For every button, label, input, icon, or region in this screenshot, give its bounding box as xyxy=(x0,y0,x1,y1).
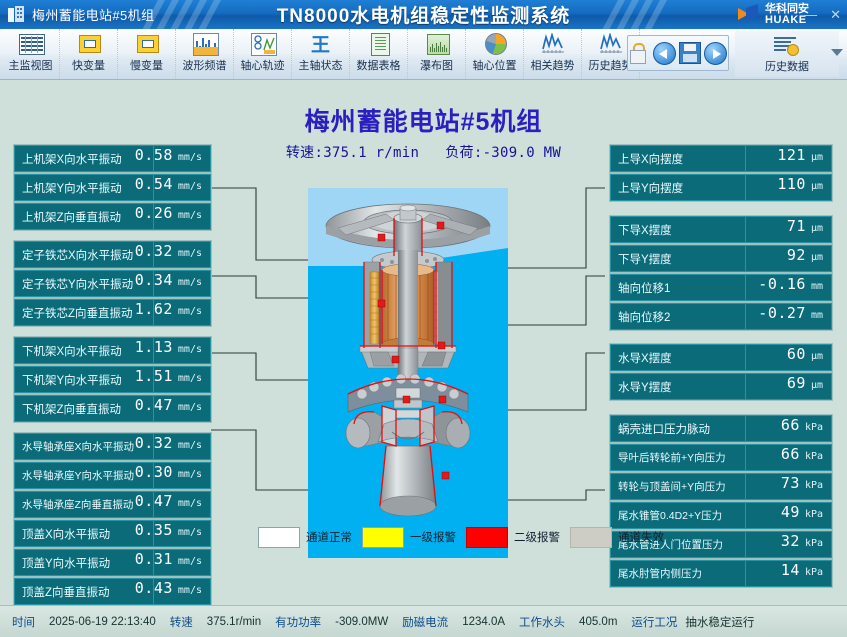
toolbar-label: 数据表格 xyxy=(357,57,401,73)
value-unit: mm/s xyxy=(178,210,202,221)
brand-name-cn: 华科同安 xyxy=(765,4,809,15)
measurement-row[interactable]: 尾水锥管0.4D2+Y压力 49 kPa xyxy=(610,502,832,529)
value-unit: mm/s xyxy=(178,498,202,509)
measurement-label: 下机架Y向水平振动 xyxy=(14,366,154,393)
status-value-water-head: 405.0m xyxy=(579,616,617,628)
measurement-row[interactable]: 下机架Y向水平振动 1.51 mm/s xyxy=(14,366,211,393)
value-number: 0.35 xyxy=(135,521,173,539)
value-number: 73 xyxy=(781,474,800,492)
measurement-value: 1.13 mm/s xyxy=(154,337,211,364)
measurement-value: 0.47 mm/s xyxy=(154,491,211,518)
measurement-value: 32 kPa xyxy=(746,531,832,558)
status-value-operating-condition: 抽水稳定运行 xyxy=(685,614,754,630)
measurement-label: 下导Y摆度 xyxy=(610,245,746,272)
application-window: 梅州蓄能电站#5机组 TN8000水电机组稳定性监测系统 华科同安 HUAKE … xyxy=(0,0,847,636)
measurement-row[interactable]: 尾水肘管内侧压力 14 kPa xyxy=(610,560,832,587)
measurement-value: -0.27 mm xyxy=(746,303,832,330)
title-bar: 梅州蓄能电站#5机组 TN8000水电机组稳定性监测系统 华科同安 HUAKE … xyxy=(0,0,847,29)
measurement-value: 0.34 mm/s xyxy=(154,270,211,297)
measurement-row[interactable]: 定子铁芯X向水平振动 0.32 mm/s xyxy=(14,241,211,268)
measurement-label: 水导轴承座Y向水平振动 xyxy=(14,462,154,489)
measurement-label: 水导X摆度 xyxy=(610,344,746,371)
brand-logo: 华科同安 HUAKE xyxy=(738,0,809,29)
measurement-label: 蜗壳进口压力脉动 xyxy=(610,415,746,442)
toolbar-item-data-table[interactable]: 数据表格 xyxy=(350,29,408,79)
legend-item-failed: 通道失效 xyxy=(570,527,664,548)
value-unit: kPa xyxy=(805,451,823,462)
legend-swatch-normal xyxy=(258,527,300,548)
navigation-button-group xyxy=(627,35,729,71)
hydro-generator-illustration xyxy=(308,188,508,558)
measurement-row[interactable]: 轴向位移1 -0.16 mm xyxy=(610,274,832,301)
measurement-value: -0.16 mm xyxy=(746,274,832,301)
value-number: 0.26 xyxy=(135,204,173,222)
measurement-label: 顶盖X向水平振动 xyxy=(14,520,154,547)
measurement-row[interactable]: 上机架X向水平振动 0.58 mm/s xyxy=(14,145,211,172)
measurement-value: 0.47 mm/s xyxy=(154,395,211,422)
toolbar-item-shaft-orbit[interactable]: 轴心轨迹 xyxy=(234,29,292,79)
speed-value: 375.1 r/min xyxy=(323,145,419,161)
history-trend-icon xyxy=(598,32,624,56)
load-label: 负荷: xyxy=(445,145,482,161)
toolbar-label: 相关趋势 xyxy=(531,57,575,73)
value-unit: kPa xyxy=(805,538,823,549)
measurement-label: 上机架Z向垂直振动 xyxy=(14,203,154,230)
measurement-row[interactable]: 转轮与顶盖间+Y向压力 73 kPa xyxy=(610,473,832,500)
toolbar-item-correlation-trend[interactable]: 相关趋势 xyxy=(524,29,582,79)
toolbar-item-main-view[interactable]: 主监视图 xyxy=(2,29,60,79)
value-unit: mm/s xyxy=(178,440,202,451)
measurement-value: 0.35 mm/s xyxy=(154,520,211,547)
value-number: 0.34 xyxy=(135,271,173,289)
measurement-value: 73 kPa xyxy=(746,473,832,500)
status-value-excitation-current: 1234.0A xyxy=(462,616,505,628)
status-value-time: 2025-06-19 22:13:40 xyxy=(49,616,156,628)
measurement-label: 下机架Z向垂直振动 xyxy=(14,395,154,422)
value-number: 1.62 xyxy=(135,300,173,318)
measurement-row[interactable]: 水导轴承座X向水平振动 0.32 mm/s xyxy=(14,433,211,460)
measurement-value: 110 μm xyxy=(746,174,832,201)
legend-swatch-alarm2 xyxy=(466,527,508,548)
toolbar-label: 主监视图 xyxy=(9,57,53,73)
value-number: 0.54 xyxy=(135,175,173,193)
measurement-value: 0.54 mm/s xyxy=(154,174,211,201)
measurement-row[interactable]: 上机架Z向垂直振动 0.26 mm/s xyxy=(14,203,211,230)
status-key-water-head: 工作水头 xyxy=(519,614,565,630)
toolbar-label: 快变量 xyxy=(72,57,105,73)
slow-variable-icon xyxy=(134,32,160,56)
waterfall-chart-icon xyxy=(424,32,450,56)
value-unit: mm/s xyxy=(178,402,202,413)
measurement-row[interactable]: 下机架Z向垂直振动 0.47 mm/s xyxy=(14,395,211,422)
toolbar-item-fast-variable[interactable]: 快变量 xyxy=(60,29,118,79)
value-number: 121 xyxy=(777,146,806,164)
measurement-row[interactable]: 上机架Y向水平振动 0.54 mm/s xyxy=(14,174,211,201)
value-unit: μm xyxy=(811,152,823,163)
load-value: -309.0 MW xyxy=(483,145,562,161)
window-title-left: 梅州蓄能电站#5机组 xyxy=(32,5,154,24)
value-unit: mm/s xyxy=(178,306,202,317)
measurement-label: 导叶后转轮前+Y向压力 xyxy=(610,444,746,471)
value-unit: μm xyxy=(811,351,823,362)
measurement-value: 69 μm xyxy=(746,373,832,400)
value-number: 60 xyxy=(787,345,806,363)
orbit-curve xyxy=(252,34,276,55)
measurement-label: 水导轴承座X向水平振动 xyxy=(14,433,154,460)
measurement-value: 1.62 mm/s xyxy=(154,299,211,326)
value-unit: mm xyxy=(811,281,823,292)
fast-variable-icon xyxy=(76,32,102,56)
value-number: 71 xyxy=(787,217,806,235)
value-unit: mm/s xyxy=(178,344,202,355)
measurement-label: 上导Y向摆度 xyxy=(610,174,746,201)
measurement-label: 下导X摆度 xyxy=(610,216,746,243)
measurement-value: 92 μm xyxy=(746,245,832,272)
value-number: 49 xyxy=(781,503,800,521)
value-number: 66 xyxy=(781,416,800,434)
history-data-label: 历史数据 xyxy=(765,58,809,74)
toolbar-label: 瀑布图 xyxy=(420,57,453,73)
measurement-row[interactable]: 顶盖Y向水平振动 0.31 mm/s xyxy=(14,549,211,576)
value-number: 0.32 xyxy=(135,434,173,452)
measurement-label: 上机架Y向水平振动 xyxy=(14,174,154,201)
measurement-row[interactable]: 下导X摆度 71 μm xyxy=(610,216,832,243)
measurement-value: 71 μm xyxy=(746,216,832,243)
legend-item-normal: 通道正常 xyxy=(258,527,352,548)
huake-logo-icon xyxy=(738,6,760,23)
value-unit: mm/s xyxy=(178,556,202,567)
measurement-label: 轴向位移1 xyxy=(610,274,746,301)
measurement-row[interactable]: 水导X摆度 60 μm xyxy=(610,344,832,371)
measurement-value: 49 kPa xyxy=(746,502,832,529)
legend-item-alarm1: 一级报警 xyxy=(362,527,456,548)
next-arrow-icon[interactable] xyxy=(704,42,727,65)
measurement-label: 下机架X向水平振动 xyxy=(14,337,154,364)
value-number: 92 xyxy=(787,246,806,264)
measurement-label: 定子铁芯Z向垂直振动 xyxy=(14,299,154,326)
titlebar-left: 梅州蓄能电站#5机组 xyxy=(8,0,154,29)
measurement-value: 0.58 mm/s xyxy=(154,145,211,172)
toolbar-item-shaft-position[interactable]: 轴心位置 xyxy=(466,29,524,79)
measurement-value: 0.32 mm/s xyxy=(154,433,211,460)
measurement-value: 14 kPa xyxy=(746,560,832,587)
value-unit: mm/s xyxy=(178,469,202,480)
brand-name-en: HUAKE xyxy=(765,15,809,26)
value-number: -0.16 xyxy=(758,275,806,293)
measurement-row[interactable]: 顶盖Z向垂直振动 0.43 mm/s xyxy=(14,578,211,605)
status-value-active-power: -309.0MW xyxy=(335,616,388,628)
measurement-label: 尾水肘管内侧压力 xyxy=(610,560,746,587)
measurement-row[interactable]: 定子铁芯Z向垂直振动 1.62 mm/s xyxy=(14,299,211,326)
measurement-label: 转轮与顶盖间+Y向压力 xyxy=(610,473,746,500)
measurement-value: 66 kPa xyxy=(746,444,832,471)
value-number: 14 xyxy=(781,561,800,579)
value-number: -0.27 xyxy=(758,304,806,322)
minimize-button[interactable]: — xyxy=(804,8,817,21)
toolbar-item-shaft-status[interactable]: 王 主轴状态 xyxy=(292,29,350,79)
toolbar-label: 波形频谱 xyxy=(183,57,227,73)
status-bar: 时间 2025-06-19 22:13:40 转速 375.1r/min 有功功… xyxy=(0,605,847,637)
measurement-value: 0.32 mm/s xyxy=(154,241,211,268)
value-unit: μm xyxy=(811,223,823,234)
shaft-orbit-icon xyxy=(250,32,276,56)
value-number: 69 xyxy=(787,374,806,392)
value-unit: kPa xyxy=(805,509,823,520)
measurement-row[interactable]: 导叶后转轮前+Y向压力 66 kPa xyxy=(610,444,832,471)
measurement-label: 上机架X向水平振动 xyxy=(14,145,154,172)
measurement-row[interactable]: 水导轴承座Y向水平振动 0.30 mm/s xyxy=(14,462,211,489)
measurement-row[interactable]: 轴向位移2 -0.27 mm xyxy=(610,303,832,330)
value-number: 66 xyxy=(781,445,800,463)
main-content: 梅州蓄能电站#5机组 转速:375.1 r/min负荷:-309.0 MW xyxy=(0,80,847,605)
shaft-position-icon xyxy=(482,32,508,56)
value-unit: mm/s xyxy=(178,585,202,596)
legend-label: 通道正常 xyxy=(306,529,352,545)
measurement-row[interactable]: 水导Y摆度 69 μm xyxy=(610,373,832,400)
history-data-icon xyxy=(773,35,801,57)
measurement-row[interactable]: 定子铁芯Y向水平振动 0.34 mm/s xyxy=(14,270,211,297)
legend-label: 一级报警 xyxy=(410,529,456,545)
dropdown-caret-icon[interactable] xyxy=(831,49,843,56)
shaft-status-icon: 王 xyxy=(308,32,334,56)
toolbar-item-waterfall[interactable]: 瀑布图 xyxy=(408,29,466,79)
value-unit: kPa xyxy=(805,567,823,578)
measurement-label: 定子铁芯X向水平振动 xyxy=(14,241,154,268)
value-number: 32 xyxy=(781,532,800,550)
measurement-label: 尾水锥管0.4D2+Y压力 xyxy=(610,502,746,529)
measurement-label: 水导轴承座Z向垂直振动 xyxy=(14,491,154,518)
status-key-active-power: 有功功率 xyxy=(275,614,321,630)
toolbar-label: 历史趋势 xyxy=(589,57,633,73)
grid-view-icon xyxy=(18,32,44,56)
value-unit: kPa xyxy=(805,422,823,433)
toolbar-item-slow-variable[interactable]: 慢变量 xyxy=(118,29,176,79)
measurement-row[interactable]: 上导X向摆度 121 μm xyxy=(610,145,832,172)
lock-icon[interactable] xyxy=(629,43,650,64)
data-table-icon xyxy=(366,32,392,56)
legend-swatch-failed xyxy=(570,527,612,548)
measurement-row[interactable]: 上导Y向摆度 110 μm xyxy=(610,174,832,201)
legend-label: 二级报警 xyxy=(514,529,560,545)
measurement-value: 0.43 mm/s xyxy=(154,578,211,605)
save-disk-icon[interactable] xyxy=(679,42,701,64)
value-unit: mm xyxy=(811,310,823,321)
turbine-diagram xyxy=(308,188,508,558)
measurement-row[interactable]: 蜗壳进口压力脉动 66 kPa xyxy=(610,415,832,442)
value-unit: mm/s xyxy=(178,527,202,538)
measurement-value: 60 μm xyxy=(746,344,832,371)
measurement-row[interactable]: 下导Y摆度 92 μm xyxy=(610,245,832,272)
measurement-value: 66 kPa xyxy=(746,415,832,442)
value-number: 0.31 xyxy=(135,550,173,568)
status-key-excitation-current: 励磁电流 xyxy=(402,614,448,630)
measurement-label: 定子铁芯Y向水平振动 xyxy=(14,270,154,297)
value-unit: μm xyxy=(811,252,823,263)
value-number: 1.13 xyxy=(135,338,173,356)
status-key-time: 时间 xyxy=(12,614,35,630)
value-unit: μm xyxy=(811,181,823,192)
status-key-speed: 转速 xyxy=(170,614,193,630)
legend-item-alarm2: 二级报警 xyxy=(466,527,560,548)
page-title: 梅州蓄能电站#5机组 xyxy=(0,102,847,138)
measurement-value: 0.26 mm/s xyxy=(154,203,211,230)
previous-arrow-icon[interactable] xyxy=(653,42,676,65)
status-key-operating-condition: 运行工况 xyxy=(631,614,677,630)
toolbar-label: 慢变量 xyxy=(130,57,163,73)
history-data-button[interactable]: 历史数据 xyxy=(735,31,839,77)
measurement-row[interactable]: 下机架X向水平振动 1.13 mm/s xyxy=(14,337,211,364)
toolbar-label: 轴心位置 xyxy=(473,57,517,73)
toolbar-label: 轴心轨迹 xyxy=(241,57,285,73)
measurement-label: 顶盖Z向垂直振动 xyxy=(14,578,154,605)
value-number: 0.32 xyxy=(135,242,173,260)
legend-swatch-alarm1 xyxy=(362,527,404,548)
value-number: 0.47 xyxy=(135,492,173,510)
measurement-label: 水导Y摆度 xyxy=(610,373,746,400)
value-unit: mm/s xyxy=(178,181,202,192)
value-unit: μm xyxy=(811,380,823,391)
measurement-label: 上导X向摆度 xyxy=(610,145,746,172)
value-number: 0.47 xyxy=(135,396,173,414)
correlation-trend-icon xyxy=(540,32,566,56)
value-unit: kPa xyxy=(805,480,823,491)
measurement-value: 0.30 mm/s xyxy=(154,462,211,489)
status-legend: 通道正常 一级报警 二级报警 通道失效 xyxy=(258,525,598,549)
toolbar-items: 主监视图 快变量 慢变量 xyxy=(2,29,640,79)
value-unit: mm/s xyxy=(178,373,202,384)
value-number: 0.30 xyxy=(135,463,173,481)
speed-label: 转速: xyxy=(286,145,323,161)
toolbar-label: 主轴状态 xyxy=(299,57,343,73)
value-number: 1.51 xyxy=(135,367,173,385)
legend-label: 通道失效 xyxy=(618,529,664,545)
measurement-value: 1.51 mm/s xyxy=(154,366,211,393)
toolbar: 主监视图 快变量 慢变量 xyxy=(0,29,847,80)
measurement-row[interactable]: 水导轴承座Z向垂直振动 0.47 mm/s xyxy=(14,491,211,518)
value-unit: mm/s xyxy=(178,248,202,259)
measurement-label: 顶盖Y向水平振动 xyxy=(14,549,154,576)
measurement-row[interactable]: 顶盖X向水平振动 0.35 mm/s xyxy=(14,520,211,547)
close-button[interactable]: ✕ xyxy=(830,8,841,21)
window-controls: — ✕ xyxy=(804,0,841,29)
value-number: 110 xyxy=(777,175,806,193)
waveform-spectrum-icon xyxy=(192,32,218,56)
measurement-value: 0.31 mm/s xyxy=(154,549,211,576)
window-title-center: TN8000水电机组稳定性监测系统 xyxy=(277,1,571,28)
status-value-speed: 375.1r/min xyxy=(207,616,261,628)
value-number: 0.58 xyxy=(135,146,173,164)
value-number: 0.43 xyxy=(135,579,173,597)
measurement-label: 轴向位移2 xyxy=(610,303,746,330)
building-icon xyxy=(8,6,25,23)
measurement-value: 121 μm xyxy=(746,145,832,172)
value-unit: mm/s xyxy=(178,152,202,163)
value-unit: mm/s xyxy=(178,277,202,288)
toolbar-item-waveform-spectrum[interactable]: 波形频谱 xyxy=(176,29,234,79)
